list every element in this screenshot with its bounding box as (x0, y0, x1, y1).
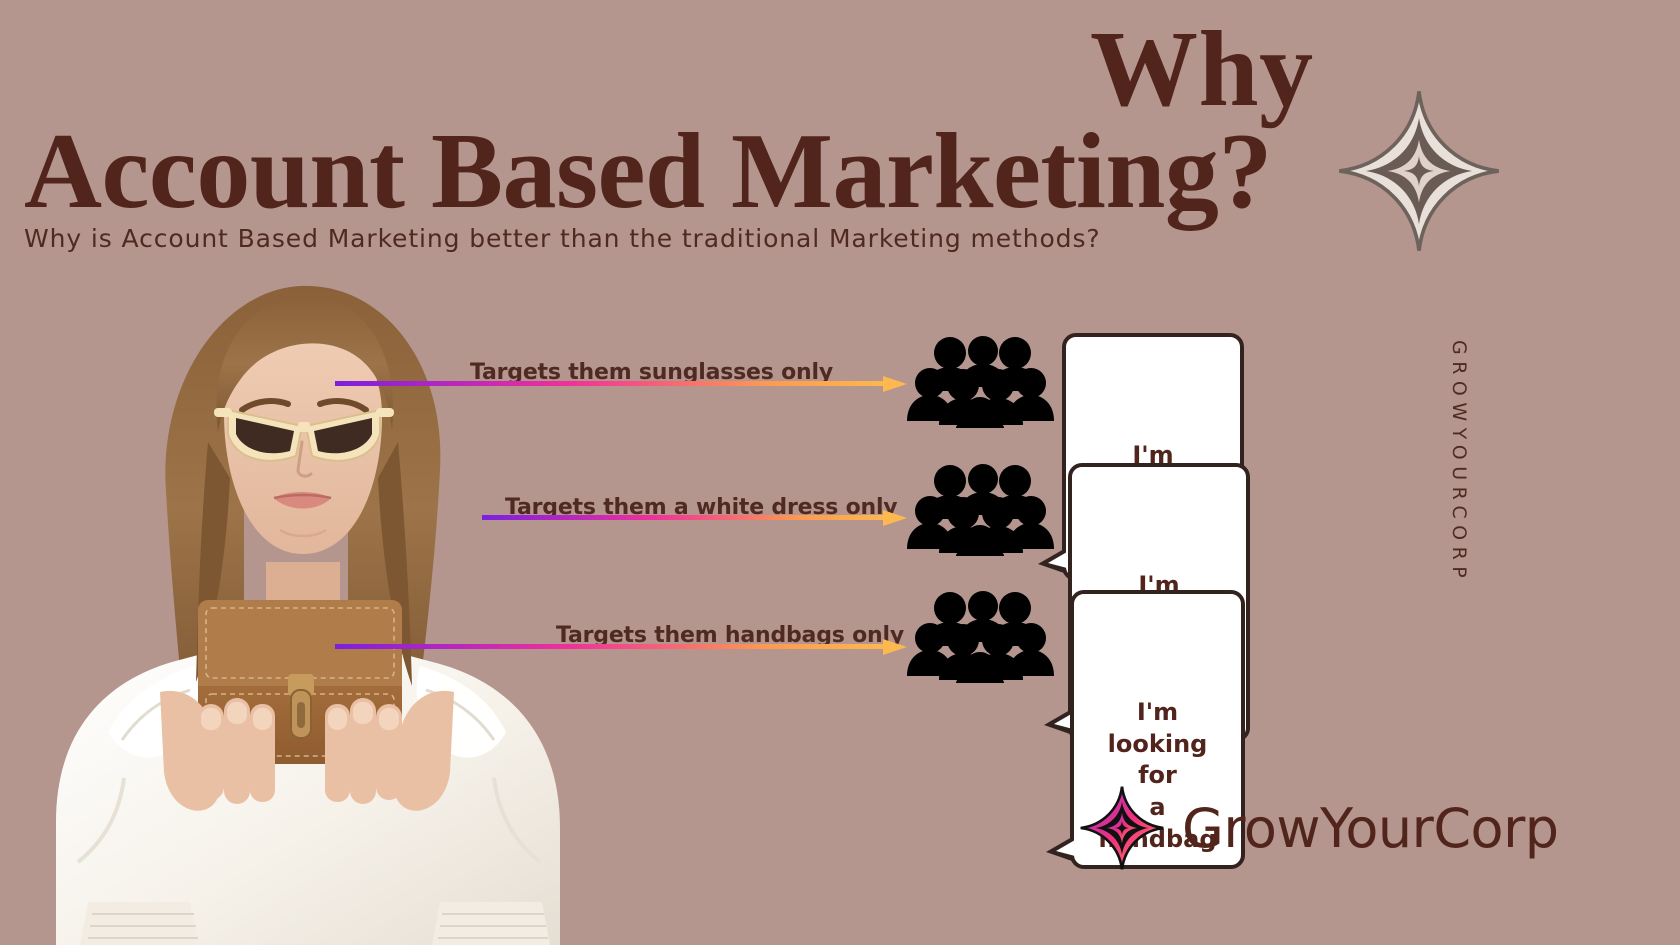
targeting-row: Targets them handbags only (0, 0, 1680, 120)
gradient-arrow-icon (335, 376, 907, 390)
gradient-arrow-icon (482, 510, 907, 524)
subtitle: Why is Account Based Marketing better th… (24, 224, 1101, 253)
page-title: Account Based Marketing? (24, 118, 1272, 226)
crowd-of-people-icon (905, 333, 1055, 428)
vertical-brand-text: GROWYOURCORP (1448, 340, 1470, 584)
gradient-arrow-icon (335, 639, 907, 653)
brand-lockup: GrowYourCorp (1078, 784, 1559, 872)
four-point-star-logo-icon (1078, 784, 1166, 872)
crowd-of-people-icon (905, 588, 1055, 683)
brand-name: GrowYourCorp (1182, 797, 1559, 860)
infographic-poster: Why Account Based Marketing? Why is Acco… (0, 0, 1680, 945)
crowd-of-people-icon (905, 461, 1055, 556)
bubble-tail-inner (1056, 840, 1075, 856)
